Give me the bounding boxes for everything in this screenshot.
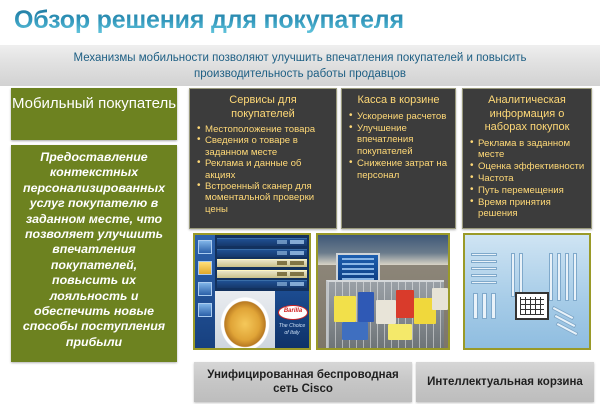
kiosk-star-icon — [198, 261, 212, 275]
store-floorplan-map — [463, 233, 591, 350]
green-heading-panel: Мобильный покупатель — [11, 88, 177, 140]
list-item: Местоположение товара — [197, 124, 332, 135]
label-text: Интеллектуальная корзина — [427, 375, 583, 389]
panel-checkout: Касса в корзине Ускорение расчетов Улучш… — [341, 88, 456, 229]
brand-name: Barilla — [279, 306, 307, 316]
map-aisle — [511, 253, 515, 297]
list-item: Снижение затрат на персонал — [349, 158, 451, 181]
green-body-text: Предоставление контекстных персонализиро… — [11, 145, 177, 350]
map-aisle — [471, 274, 497, 277]
kiosk-row — [217, 238, 307, 246]
grocery-item — [432, 288, 448, 310]
grocery-item — [334, 296, 356, 322]
kiosk-menu-icon — [198, 240, 212, 254]
brand-tagline: The Choice of Italy — [276, 323, 308, 336]
brand-panel: Barilla The Choice of Italy — [275, 291, 309, 348]
list-item: Встроенный сканер для моментальной прове… — [197, 181, 332, 215]
map-aisle — [473, 293, 478, 319]
kiosk-sidebar — [195, 235, 215, 348]
shopping-cart-basket — [326, 280, 444, 348]
grocery-item — [342, 322, 368, 340]
map-aisle — [557, 253, 561, 301]
list-item: Реклама в заданном месте — [470, 138, 587, 161]
list-item: Оценка эффективности — [470, 161, 587, 172]
grocery-item — [358, 292, 374, 322]
list-item: Путь перемещения — [470, 185, 587, 196]
list-item: Реклама и данные об акциях — [197, 158, 332, 181]
map-aisle — [471, 281, 497, 284]
kiosk-item-rows — [215, 235, 309, 291]
list-item: Улучшение впечатления покупателей — [349, 123, 451, 157]
shopping-list-kiosk-screen: Barilla The Choice of Italy — [193, 233, 311, 350]
pasta-dish-photo — [215, 291, 275, 348]
label-unified-wireless-network: Унифицированная беспроводная сеть Cisco — [194, 362, 412, 402]
grocery-item — [376, 300, 396, 324]
panel-analytics-title: Аналитическая информация о наборах покуп… — [463, 89, 591, 138]
subtitle-band: Механизмы мобильности позволяют улучшить… — [0, 45, 600, 86]
map-aisle — [482, 293, 487, 319]
page-title: Обзор решения для покупателя — [14, 2, 584, 40]
label-smart-basket: Интеллектуальная корзина — [416, 362, 594, 402]
panel-services-title: Сервисы для покупателей — [190, 89, 336, 124]
map-aisle — [573, 253, 577, 301]
subtitle-text: Механизмы мобильности позволяют улучшить… — [0, 50, 600, 82]
kiosk-row — [217, 280, 307, 288]
map-aisle — [471, 253, 497, 256]
map-aisle — [565, 253, 569, 301]
panel-analytics: Аналитическая информация о наборах покуп… — [462, 88, 592, 229]
cart-tablet-device — [336, 253, 380, 283]
kiosk-cart-icon — [198, 303, 212, 317]
barilla-logo: Barilla — [278, 305, 308, 320]
map-aisle — [519, 253, 523, 297]
panel-services-list: Местоположение товара Сведения о товаре … — [190, 124, 336, 215]
kiosk-row-selected — [217, 270, 307, 278]
map-cart-icon — [515, 292, 549, 320]
list-item: Время принятия решения — [470, 197, 587, 220]
smart-cart-tablet-photo — [316, 233, 450, 350]
panel-analytics-list: Реклама в заданном месте Оценка эффектив… — [463, 138, 591, 220]
list-item: Сведения о товаре в заданном месте — [197, 135, 332, 158]
grocery-item — [388, 324, 412, 340]
green-body-panel: Предоставление контекстных персонализиро… — [11, 145, 177, 362]
panel-checkout-list: Ускорение расчетов Улучшение впечатления… — [342, 111, 455, 181]
map-aisle — [549, 253, 553, 301]
map-aisle — [471, 260, 497, 263]
kiosk-row-selected — [217, 259, 307, 267]
panel-checkout-title: Касса в корзине — [342, 89, 455, 111]
label-text: Унифицированная беспроводная сеть Cisco — [194, 368, 412, 396]
kiosk-row — [217, 249, 307, 257]
panel-services: Сервисы для покупателей Местоположение т… — [189, 88, 337, 229]
map-aisle — [491, 293, 496, 319]
list-item: Ускорение расчетов — [349, 111, 451, 122]
grocery-item — [396, 290, 414, 318]
list-item: Частота — [470, 173, 587, 184]
map-aisle — [471, 267, 497, 270]
green-heading-text: Мобильный покупатель — [11, 88, 177, 115]
kiosk-list-icon — [198, 282, 212, 296]
